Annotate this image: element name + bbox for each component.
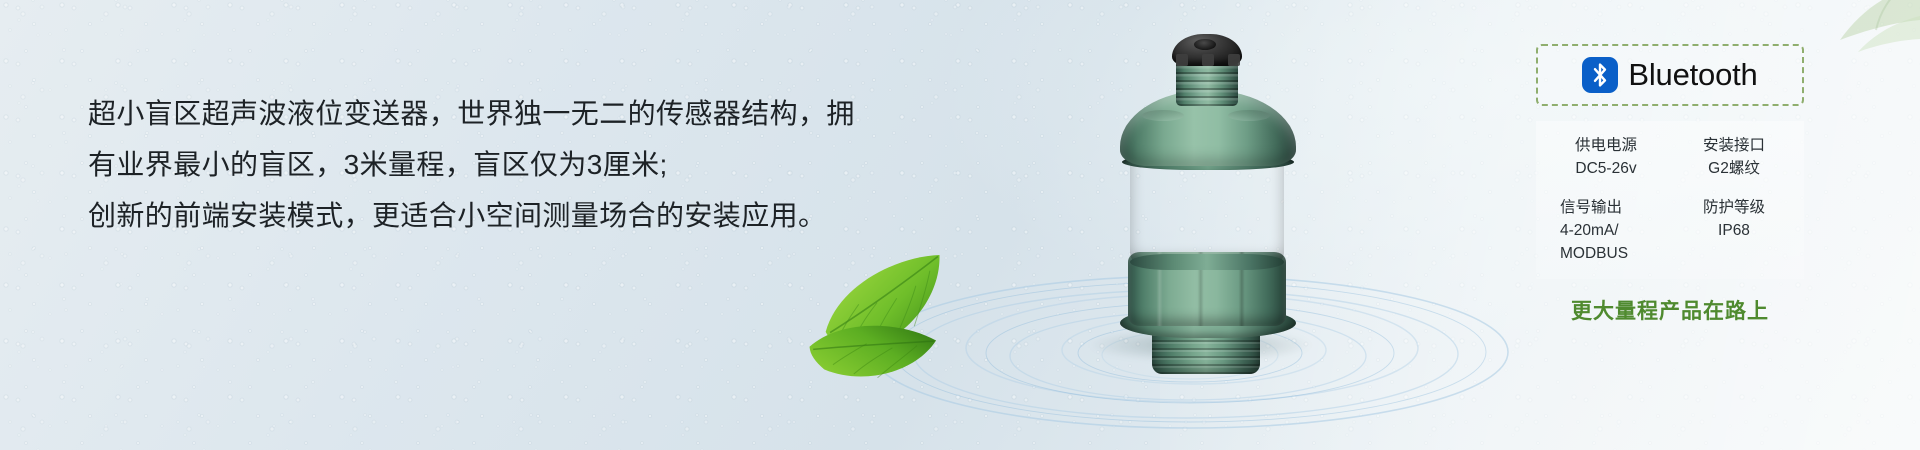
spec-power-value: DC5-26v: [1542, 157, 1670, 180]
product-image: [980, 28, 1400, 388]
headline-copy: 超小盲区超声波液位变送器，世界独一无二的传感器结构，拥 有业界最小的盲区，3米量…: [88, 88, 888, 241]
spec-table: 供电电源 DC5-26v 安装接口 G2螺纹 信号输出 4-20mA/ MODB…: [1536, 121, 1804, 279]
product-banner: 超小盲区超声波液位变送器，世界独一无二的传感器结构，拥 有业界最小的盲区，3米量…: [0, 0, 1920, 450]
spec-ip-value: IP68: [1670, 219, 1798, 242]
spec-signal-value-1: 4-20mA/: [1560, 219, 1670, 242]
bluetooth-badge: Bluetooth: [1536, 44, 1804, 106]
product-cap-dimple-left: [1142, 110, 1184, 121]
tagline: 更大量程产品在路上: [1536, 295, 1804, 325]
spec-signal-value-2: MODBUS: [1560, 242, 1670, 265]
headline-line-3: 创新的前端安装模式，更适合小空间测量场合的安装应用。: [88, 190, 888, 241]
spec-ip-key: 防护等级: [1670, 196, 1798, 219]
spec-mount-key: 安装接口: [1670, 134, 1798, 157]
headline-line-1: 超小盲区超声波液位变送器，世界独一无二的传感器结构，拥: [88, 88, 888, 139]
headline-line-2: 有业界最小的盲区，3米量程，盲区仅为3厘米;: [88, 139, 888, 190]
product-head-notch: [1202, 54, 1214, 66]
product-head-port: [1194, 39, 1216, 50]
spec-mount: 安装接口 G2螺纹: [1670, 134, 1798, 180]
spec-power: 供电电源 DC5-26v: [1542, 134, 1670, 180]
spec-power-key: 供电电源: [1542, 134, 1670, 157]
bluetooth-label: Bluetooth: [1628, 57, 1757, 93]
product-cap-dimple-right: [1228, 110, 1270, 121]
product-head-notch: [1176, 54, 1188, 66]
spec-signal: 信号输出 4-20mA/ MODBUS: [1542, 196, 1670, 265]
spec-ip: 防护等级 IP68: [1670, 196, 1798, 265]
spec-signal-key: 信号输出: [1560, 196, 1670, 219]
spec-mount-value: G2螺纹: [1670, 157, 1798, 180]
spec-panel: Bluetooth 供电电源 DC5-26v 安装接口 G2螺纹 信号输出 4-…: [1536, 44, 1804, 325]
green-leaves-icon: [800, 252, 990, 392]
bluetooth-icon: [1582, 57, 1618, 93]
product-head-notch: [1228, 54, 1240, 66]
